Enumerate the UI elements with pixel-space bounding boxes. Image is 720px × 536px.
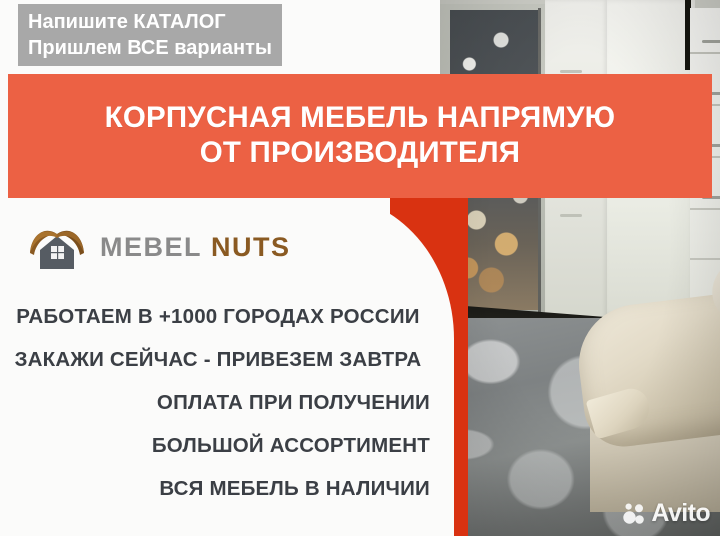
feature-item: БОЛЬШОЙ АССОРТИМЕНТ [0,424,436,467]
brand-logo-text: MEBELNUTS [100,232,291,263]
headline-line-1: КОРПУСНАЯ МЕБЕЛЬ НАПРЯМУЮ [105,103,616,134]
feature-list: РАБОТАЕМ В +1000 ГОРОДАХ РОССИИ ЗАКАЖИ С… [0,295,436,510]
headline-line-2: ОТ ПРОИЗВОДИТЕЛЯ [200,138,520,169]
advertisement-banner: КОРПУСНАЯ МЕБЕЛЬ НАПРЯМУЮ ОТ ПРОИЗВОДИТЕ… [0,0,720,536]
feature-item: РАБОТАЕМ В +1000 ГОРОДАХ РОССИИ [0,295,436,338]
brand-name-secondary: NUTS [211,232,291,262]
avito-label: Avito [651,499,710,528]
callout-line-1: Напишите КАТАЛОГ [28,9,274,35]
avito-watermark: Avito [622,499,710,528]
house-with-leaf-roof-icon [26,219,88,275]
brand-name-primary: MEBEL [100,232,202,262]
headline-banner: КОРПУСНАЯ МЕБЕЛЬ НАПРЯМУЮ ОТ ПРОИЗВОДИТЕ… [8,74,712,198]
avito-dots-icon [622,502,646,526]
callout-line-2: Пришлем ВСЕ варианты [28,35,274,61]
feature-item: ОПЛАТА ПРИ ПОЛУЧЕНИИ [0,381,436,424]
feature-item: ВСЯ МЕБЕЛЬ В НАЛИЧИИ [0,467,436,510]
feature-item: ЗАКАЖИ СЕЙЧАС - ПРИВЕЗЕМ ЗАВТРА [0,338,436,381]
brand-logo: MEBELNUTS [26,216,296,278]
catalog-callout: Напишите КАТАЛОГ Пришлем ВСЕ варианты [18,4,282,66]
